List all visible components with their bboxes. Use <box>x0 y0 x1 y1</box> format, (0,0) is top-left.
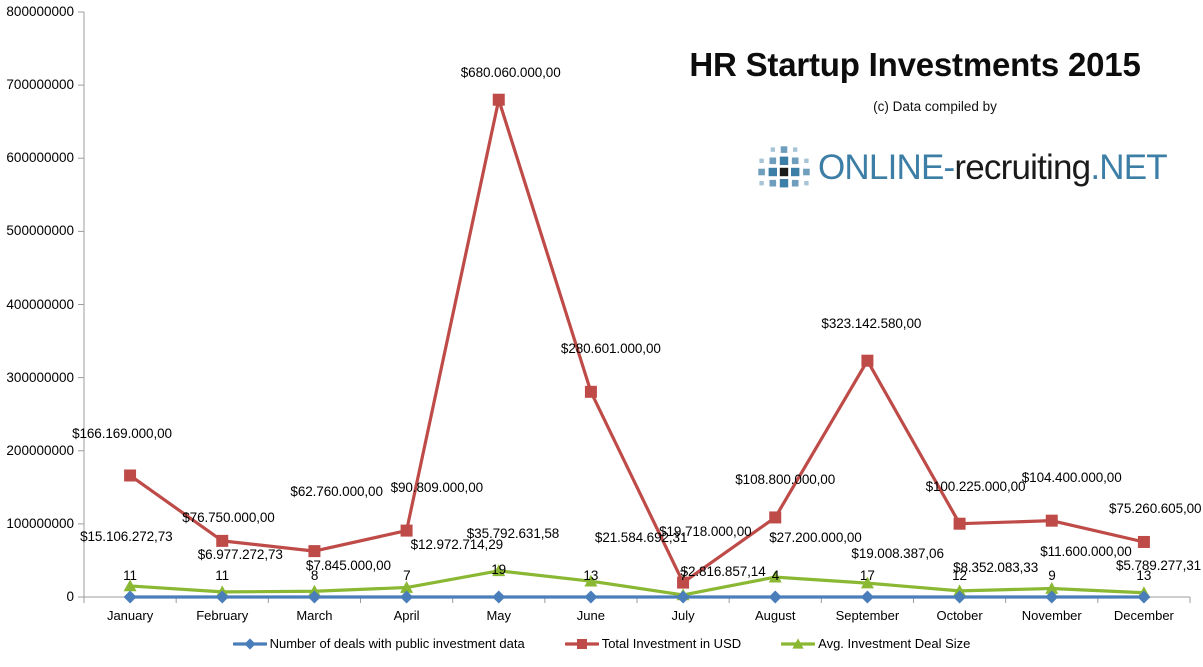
data-label-avg-deal-size: $7.845.000,00 <box>306 559 391 573</box>
data-label-avg-deal-size: $15.106.272,73 <box>80 530 172 544</box>
data-label-deal-count: 11 <box>123 569 137 583</box>
y-axis-tick: 100000000 <box>0 517 74 531</box>
legend-marker-square-icon <box>565 637 599 651</box>
data-label-total-investment: $280.601.000,00 <box>561 342 661 356</box>
legend-label: Number of deals with public investment d… <box>270 636 525 651</box>
data-label-avg-deal-size: $11.600.000,00 <box>1040 545 1131 559</box>
chart-container: HR Startup Investments 2015 (c) Data com… <box>0 0 1203 667</box>
data-label-total-investment: $323.142.580,00 <box>821 317 921 331</box>
legend-marker-diamond-icon <box>233 637 267 651</box>
legend-marker-triangle-icon <box>781 637 815 651</box>
legend-item[interactable]: Total Investment in USD <box>565 636 741 651</box>
y-axis-tick: 600000000 <box>0 151 74 165</box>
data-label-total-investment: $100.225.000,00 <box>926 480 1026 494</box>
data-label-avg-deal-size: $2.816.857,14 <box>681 565 766 579</box>
legend-item[interactable]: Number of deals with public investment d… <box>233 636 525 651</box>
logo: ONLINE-recruiting.NET <box>752 143 1167 191</box>
logo-text-recruiting: recruiting <box>954 148 1090 187</box>
data-label-total-investment: $108.800.000,00 <box>735 473 835 487</box>
data-label-deal-count: 8 <box>311 569 318 583</box>
data-label-total-investment: $104.400.000,00 <box>1022 471 1122 485</box>
data-label-avg-deal-size: $27.200.000,00 <box>769 531 861 545</box>
y-axis-tick: 200000000 <box>0 444 74 458</box>
data-label-avg-deal-size: $5.789.277,31 <box>1116 559 1201 573</box>
logo-text-online: ONLINE- <box>818 148 954 187</box>
data-label-deal-count: 7 <box>680 569 687 583</box>
chart-legend: Number of deals with public investment d… <box>0 636 1203 651</box>
data-label-total-investment: $76.750.000,00 <box>182 511 274 525</box>
page-title: HR Startup Investments 2015 <box>640 48 1190 83</box>
data-label-deal-count: 9 <box>1048 569 1055 583</box>
data-label-avg-deal-size: $35.792.631,58 <box>467 527 559 541</box>
legend-label: Total Investment in USD <box>602 636 741 651</box>
logo-dot-matrix-icon <box>752 143 814 191</box>
credit-text: (c) Data compiled by <box>640 99 1190 114</box>
y-axis-tick: 400000000 <box>0 298 74 312</box>
logo-wordmark: ONLINE-recruiting.NET <box>818 150 1167 185</box>
title-block: HR Startup Investments 2015 (c) Data com… <box>640 48 1190 114</box>
y-axis-tick: 300000000 <box>0 371 74 385</box>
data-label-deal-count: 4 <box>772 569 779 583</box>
data-label-avg-deal-size: $21.584.692,31 <box>595 531 687 545</box>
data-label-avg-deal-size: $6.977.272,73 <box>198 548 283 562</box>
legend-item[interactable]: Avg. Investment Deal Size <box>781 636 970 651</box>
y-axis-tick: 800000000 <box>0 5 74 19</box>
data-label-deal-count: 12 <box>952 569 967 583</box>
data-label-total-investment: $90.809.000,00 <box>391 481 483 495</box>
data-label-deal-count: 11 <box>215 569 229 583</box>
data-label-avg-deal-size: $19.008.387,06 <box>851 547 943 561</box>
y-axis-tick: 700000000 <box>0 78 74 92</box>
data-label-deal-count: 13 <box>1136 569 1151 583</box>
data-label-deal-count: 7 <box>403 569 410 583</box>
logo-text-net: .NET <box>1090 148 1167 187</box>
y-axis-tick: 0 <box>0 590 74 604</box>
legend-label: Avg. Investment Deal Size <box>818 636 970 651</box>
data-label-deal-count: 13 <box>583 569 598 583</box>
data-label-total-investment: $680.060.000,00 <box>461 66 561 80</box>
x-axis-tick: December <box>1089 609 1199 622</box>
data-label-total-investment: $166.169.000,00 <box>72 427 172 441</box>
data-label-total-investment: $75.260.605,00 <box>1109 502 1201 516</box>
data-label-total-investment: $62.760.000,00 <box>290 485 382 499</box>
data-label-deal-count: 19 <box>491 563 506 577</box>
y-axis-tick: 500000000 <box>0 224 74 238</box>
data-label-deal-count: 17 <box>860 569 875 583</box>
